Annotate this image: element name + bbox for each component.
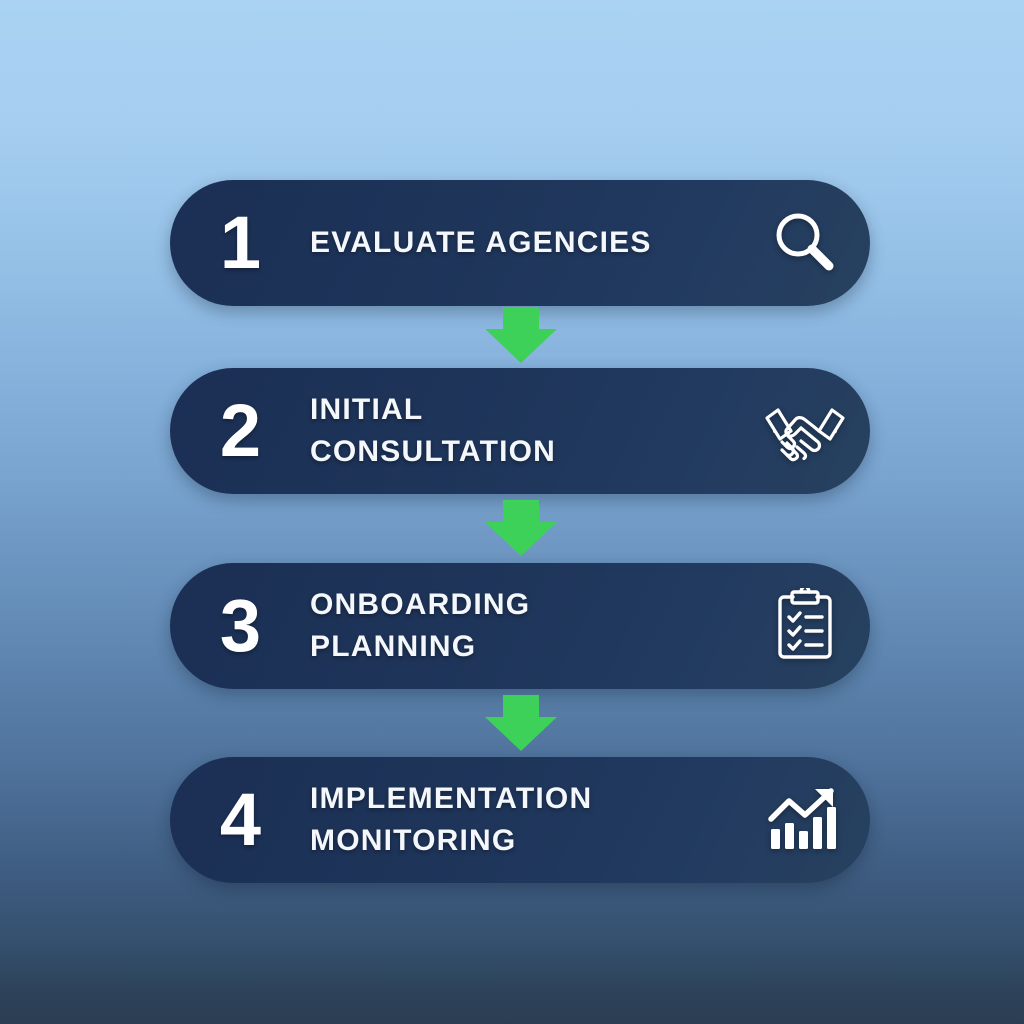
- step-number: 4: [170, 783, 278, 857]
- process-step-2[interactable]: 2 INITIAL CONSULTATION: [170, 368, 870, 494]
- step-number: 3: [170, 589, 278, 663]
- growth-chart-icon: [740, 757, 870, 883]
- handshake-icon: [740, 368, 870, 494]
- flow-container: 1 EVALUATE AGENCIES 2 INITIAL CONSULTATI…: [0, 0, 1024, 1024]
- step-label: INITIAL CONSULTATION: [278, 389, 740, 473]
- step-number: 2: [170, 394, 278, 468]
- step-label: ONBOARDING PLANNING: [278, 584, 740, 668]
- arrow-down-3-icon: [485, 695, 557, 751]
- arrow-down-1-icon: [485, 307, 557, 363]
- arrow-down-2-icon: [485, 500, 557, 556]
- process-step-1[interactable]: 1 EVALUATE AGENCIES: [170, 180, 870, 306]
- step-label: EVALUATE AGENCIES: [278, 222, 740, 264]
- magnifier-icon: [740, 180, 870, 306]
- process-flow-diagram: 1 EVALUATE AGENCIES 2 INITIAL CONSULTATI…: [0, 0, 1024, 1024]
- clipboard-checklist-icon: [740, 563, 870, 689]
- step-label: IMPLEMENTATION MONITORING: [278, 778, 740, 862]
- step-number: 1: [170, 206, 278, 280]
- process-step-4[interactable]: 4 IMPLEMENTATION MONITORING: [170, 757, 870, 883]
- process-step-3[interactable]: 3 ONBOARDING PLANNING: [170, 563, 870, 689]
